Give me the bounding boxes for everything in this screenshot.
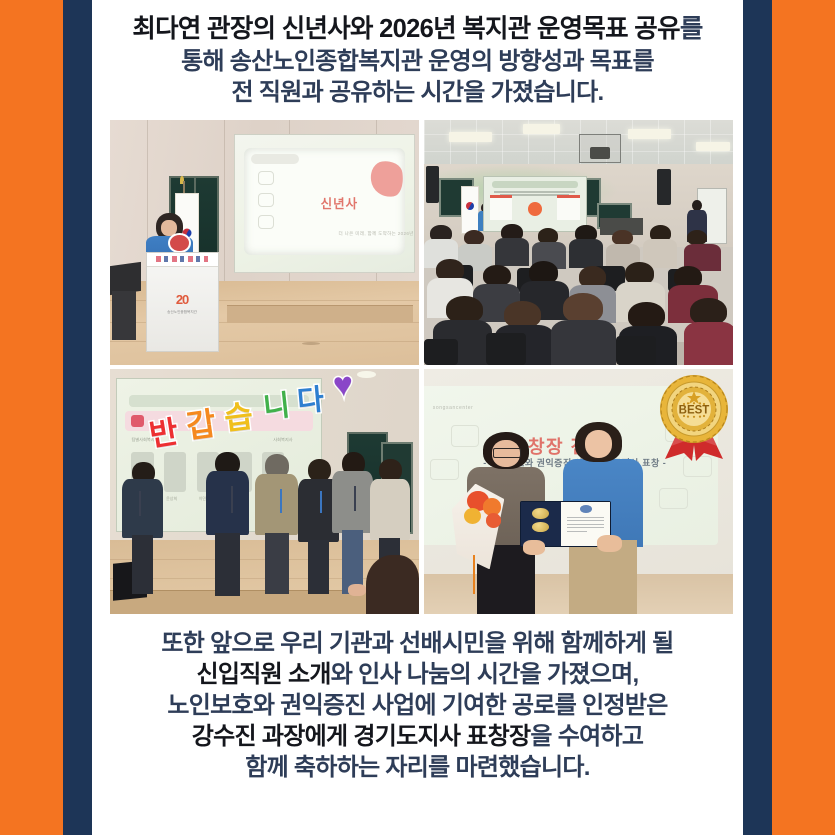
top-line2-text: 통해 송산노인종합복지관 운영의 방향성과 목표를 bbox=[181, 48, 654, 75]
slide-tag: songsancenter bbox=[433, 405, 474, 411]
bottom-line4-tail: 을 수여하고 bbox=[530, 723, 643, 750]
projection-screen: 신년사 더 나은 미래, 함께 도약하는 2026년 bbox=[234, 134, 415, 273]
top-line1-tail: 를 bbox=[680, 15, 703, 43]
top-line3-text: 전 직원과 공유하는 시간을 가졌습니다. bbox=[232, 79, 604, 106]
photo-staff-intro: 팀별사회복지사 사회복지사 윤상희 이민정 bbox=[110, 369, 419, 614]
photo-audience bbox=[424, 120, 733, 365]
slide-subtitle: 더 나은 미래, 함께 도약하는 2026년 bbox=[339, 231, 414, 237]
ceiling-projector bbox=[579, 134, 621, 163]
left-navy-border bbox=[63, 0, 92, 835]
bottom-caption-line-3: 노인보호와 권익증진 사업에 기여한 공로를 인정받은 bbox=[110, 690, 725, 721]
top-caption-line-1: 최다연 관장의 신년사와 2026년 복지관 운영목표 공유를 bbox=[110, 13, 725, 46]
bottom-caption-line-5: 함께 축하하는 자리를 마련했습니다. bbox=[110, 752, 725, 783]
bottom-caption-line-1: 또한 앞으로 우리 기관과 선배시민을 위해 함께하게 될 bbox=[110, 628, 725, 659]
bottom-caption: 또한 앞으로 우리 기관과 선배시민을 위해 함께하게 될 신입직원 소개와 인… bbox=[110, 614, 725, 784]
top-caption: 최다연 관장의 신년사와 2026년 복지관 운영목표 공유를 통해 송산노인종… bbox=[110, 0, 725, 109]
bottom-line5-text: 함께 축하하는 자리를 마련했습니다. bbox=[245, 754, 590, 781]
best-badge-label: BEST bbox=[679, 404, 710, 416]
bottom-line2-tail: 와 인사 나눔의 시간을 가졌으며, bbox=[331, 661, 639, 688]
poster-content: 최다연 관장의 신년사와 2026년 복지관 운영목표 공유를 통해 송산노인종… bbox=[92, 0, 743, 835]
bottom-line1-text: 또한 앞으로 우리 기관과 선배시민을 위해 함께하게 될 bbox=[161, 630, 673, 657]
podium-logo: 20 bbox=[176, 292, 188, 307]
podium: 20 송산노인종합복지관 bbox=[146, 252, 219, 352]
bottom-line3-text: 노인보호와 권익증진 사업에 기여한 공로를 인정받은 bbox=[167, 692, 667, 719]
right-orange-border bbox=[772, 0, 835, 835]
photo-award: songsancenter 표창장 전달 - 노인보호와 권익증진 사업 경기도… bbox=[424, 369, 733, 614]
bottom-caption-line-4: 강수진 과장에게 경기도지사 표창장을 수여하고 bbox=[110, 721, 725, 752]
top-caption-line-2: 통해 송산노인종합복지관 운영의 방향성과 목표를 bbox=[110, 46, 725, 77]
poster-card: 최다연 관장의 신년사와 2026년 복지관 운영목표 공유를 통해 송산노인종… bbox=[0, 0, 835, 835]
audience-group bbox=[424, 222, 733, 364]
microphone bbox=[170, 235, 189, 251]
photo-grid: 신년사 더 나은 미래, 함께 도약하는 2026년 20 bbox=[110, 120, 725, 614]
top-line1-bold: 최다연 관장의 신년사와 2026년 복지관 운영목표 공유 bbox=[132, 15, 679, 43]
right-navy-border bbox=[743, 0, 772, 835]
photo-podium: 신년사 더 나은 미래, 함께 도약하는 2026년 20 bbox=[110, 120, 419, 365]
bottom-line2-bold: 신입직원 소개 bbox=[196, 661, 330, 688]
bottom-caption-line-2: 신입직원 소개와 인사 나눔의 시간을 가졌으며, bbox=[110, 659, 725, 690]
top-caption-line-3: 전 직원과 공유하는 시간을 가졌습니다. bbox=[110, 77, 725, 108]
left-orange-border bbox=[0, 0, 63, 835]
slide-title: 신년사 bbox=[321, 193, 359, 212]
podium-logo-sub: 송산노인종합복지관 bbox=[167, 310, 197, 315]
bottom-line4-bold: 강수진 과장에게 경기도지사 표창장 bbox=[192, 723, 531, 750]
best-award-badge: BEST bbox=[651, 369, 733, 461]
